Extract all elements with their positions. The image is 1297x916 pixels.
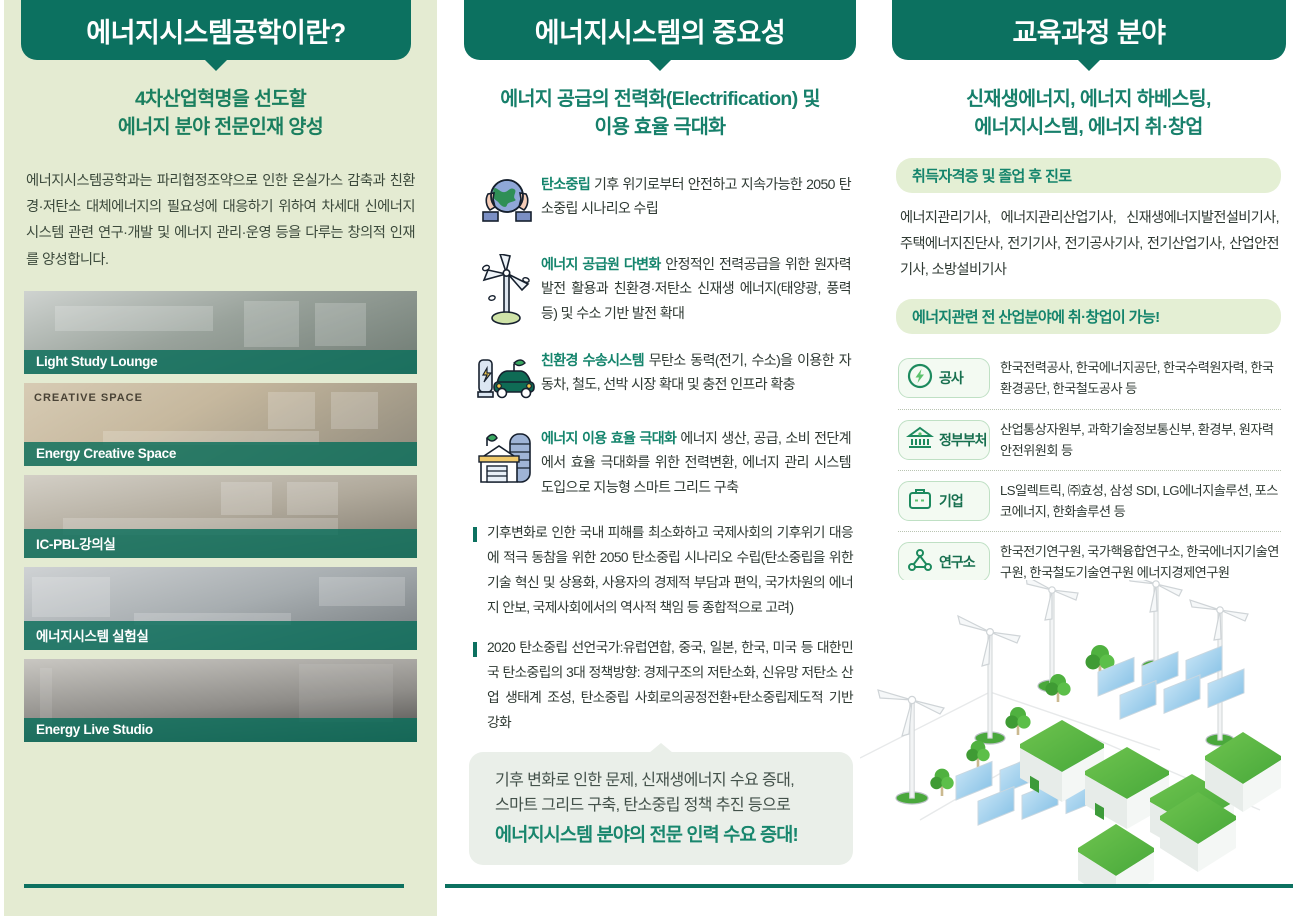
bullet-item: 2020 탄소중립 선언국가:유럽연합, 중국, 일본, 한국, 미국 등 대한… bbox=[473, 636, 853, 735]
briefcase-icon bbox=[906, 484, 934, 517]
column-curriculum: 교육과정 분야 신재생에너지, 에너지 하베스팅, 에너지시스템, 에너지 취·… bbox=[884, 0, 1293, 592]
feature-text: 탄소중립 기후 위기로부터 안전하고 지속가능한 2050 탄소중립 시나리오 … bbox=[541, 172, 851, 230]
column3-subtitle-line1: 신재생에너지, 에너지 하베스팅, bbox=[884, 85, 1293, 113]
column3-subtitle-line2: 에너지시스템, 에너지 취·창업 bbox=[884, 113, 1293, 141]
career-badge: 기업 bbox=[898, 481, 990, 521]
career-row-government: 정부부처 산업통상자원부, 과학기술정보통신부, 환경부, 원자력안전위원회 등 bbox=[898, 410, 1281, 471]
callout-line1: 기후 변화로 인한 문제, 신재생에너지 수요 증대, bbox=[495, 768, 835, 794]
photo-ic-pbl-classroom: IC-PBL강의실 bbox=[24, 475, 417, 558]
feature-title: 친환경 수송시스템 bbox=[541, 352, 644, 368]
footer-rule-right bbox=[445, 884, 1293, 888]
career-text: 산업통상자원부, 과학기술정보통신부, 환경부, 원자력안전위원회 등 bbox=[990, 419, 1281, 461]
career-label: 정부부처 bbox=[939, 430, 987, 450]
bullet-list: 기후변화로 인한 국내 피해를 최소화하고 국제사회의 기후위기 대응에 적극 … bbox=[473, 521, 853, 736]
feature-text: 에너지 공급원 다변화 안정적인 전력공급을 위한 원자력 발전 활용과 친환경… bbox=[541, 252, 851, 326]
column1-header: 에너지시스템공학이란? bbox=[21, 0, 411, 60]
career-badge: 공사 bbox=[898, 358, 990, 398]
certifications-text: 에너지관리기사, 에너지관리산업기사, 신재생에너지발전설비기사, 주택에너지진… bbox=[900, 205, 1279, 284]
column2-subtitle: 에너지 공급의 전력화(Electrification) 및 이용 효율 극대화 bbox=[445, 85, 875, 142]
government-building-icon bbox=[906, 423, 934, 456]
feature-list: 탄소중립 기후 위기로부터 안전하고 지속가능한 2050 탄소중립 시나리오 … bbox=[473, 172, 851, 500]
column1-subtitle-line2: 에너지 분야 전문인재 양성 bbox=[4, 113, 437, 141]
photo-caption: 에너지시스템 실험실 bbox=[24, 621, 417, 650]
feature-row: 에너지 공급원 다변화 안정적인 전력공급을 위한 원자력 발전 활용과 친환경… bbox=[473, 252, 851, 326]
photo-caption: Light Study Lounge bbox=[24, 350, 417, 374]
renewable-energy-village-illustration bbox=[860, 580, 1297, 885]
feature-title: 탄소중립 bbox=[541, 176, 590, 192]
photo-caption: IC-PBL강의실 bbox=[24, 529, 417, 558]
photo-wall-text: CREATIVE SPACE bbox=[34, 392, 143, 404]
career-text: 한국전기연구원, 국가핵융합연구소, 한국에너지기술연구원, 한국철도기술연구원… bbox=[990, 541, 1281, 583]
column3-header-wrap: 교육과정 분야 bbox=[884, 0, 1293, 60]
column1-intro-paragraph: 에너지시스템공학과는 파리협정조약으로 인한 온실가스 감축과 친환경·저탄소 … bbox=[26, 168, 415, 274]
photo-energy-creative-space: CREATIVE SPACE Energy Creative Space bbox=[24, 383, 417, 466]
column1-header-wrap: 에너지시스템공학이란? bbox=[4, 0, 437, 60]
career-text: 한국전력공사, 한국에너지공단, 한국수력원자력, 한국환경공단, 한국철도공사… bbox=[990, 357, 1281, 399]
column3-header-notch bbox=[1078, 60, 1100, 71]
brochure-page: 에너지시스템공학이란? 4차산업혁명을 선도할 에너지 분야 전문인재 양성 에… bbox=[0, 0, 1297, 916]
feature-row: 탄소중립 기후 위기로부터 안전하고 지속가능한 2050 탄소중립 시나리오 … bbox=[473, 172, 851, 230]
footer-rule-left bbox=[24, 884, 404, 888]
column1-subtitle: 4차산업혁명을 선도할 에너지 분야 전문인재 양성 bbox=[4, 85, 437, 142]
smart-factory-icon bbox=[473, 426, 541, 500]
feature-title: 에너지 공급원 다변화 bbox=[541, 256, 661, 272]
careers-pill: 에너지관련 전 산업분야에 취·창업이 가능! bbox=[896, 299, 1281, 334]
demand-callout: 기후 변화로 인한 문제, 신재생에너지 수요 증대, 스마트 그리드 구축, … bbox=[469, 752, 853, 865]
column2-header: 에너지시스템의 중요성 bbox=[464, 0, 856, 60]
feature-row: 친환경 수송시스템 무탄소 동력(전기, 수소)을 이용한 자동차, 철도, 선… bbox=[473, 348, 851, 404]
career-text: LS일렉트릭, ㈜효성, 삼성 SDI, LG에너지솔루션, 포스코에너지, 한… bbox=[990, 480, 1281, 522]
photo-energy-system-lab: 에너지시스템 실험실 bbox=[24, 567, 417, 650]
column-about: 에너지시스템공학이란? 4차산업혁명을 선도할 에너지 분야 전문인재 양성 에… bbox=[4, 0, 437, 751]
career-label: 공사 bbox=[939, 368, 963, 388]
career-row-public-corp: 공사 한국전력공사, 한국에너지공단, 한국수력원자력, 한국환경공단, 한국철… bbox=[898, 348, 1281, 409]
bullet-item: 기후변화로 인한 국내 피해를 최소화하고 국제사회의 기후위기 대응에 적극 … bbox=[473, 521, 853, 620]
column3-header: 교육과정 분야 bbox=[892, 0, 1286, 60]
feature-row: 에너지 이용 효율 극대화 에너지 생산, 공급, 소비 전단계에서 효율 극대… bbox=[473, 426, 851, 500]
feature-text: 에너지 이용 효율 극대화 에너지 생산, 공급, 소비 전단계에서 효율 극대… bbox=[541, 426, 851, 500]
column2-subtitle-line1: 에너지 공급의 전력화(Electrification) 및 bbox=[445, 85, 875, 113]
column2-header-notch bbox=[649, 60, 671, 71]
career-list: 공사 한국전력공사, 한국에너지공단, 한국수력원자력, 한국환경공단, 한국철… bbox=[898, 348, 1281, 592]
career-label: 연구소 bbox=[939, 552, 975, 572]
photo-caption: Energy Creative Space bbox=[24, 442, 417, 466]
wind-turbine-icon bbox=[473, 252, 541, 326]
photo-caption: Energy Live Studio bbox=[24, 718, 417, 742]
photo-energy-live-studio: Energy Live Studio bbox=[24, 659, 417, 742]
column1-header-notch bbox=[205, 60, 227, 71]
earth-in-hands-icon bbox=[473, 172, 541, 230]
column-importance: 에너지시스템의 중요성 에너지 공급의 전력화(Electrification)… bbox=[445, 0, 875, 865]
energy-bolt-icon bbox=[906, 362, 934, 395]
photo-light-study-lounge: Light Study Lounge bbox=[24, 291, 417, 374]
column3-subtitle: 신재생에너지, 에너지 하베스팅, 에너지시스템, 에너지 취·창업 bbox=[884, 85, 1293, 142]
feature-text: 친환경 수송시스템 무탄소 동력(전기, 수소)을 이용한 자동차, 철도, 선… bbox=[541, 348, 851, 404]
column2-header-wrap: 에너지시스템의 중요성 bbox=[445, 0, 875, 60]
certifications-pill: 취득자격증 및 졸업 후 진로 bbox=[896, 158, 1281, 193]
career-badge: 정부부처 bbox=[898, 420, 990, 460]
ev-charging-car-icon bbox=[473, 348, 541, 404]
callout-line2: 스마트 그리드 구축, 탄소중립 정책 추진 등으로 bbox=[495, 793, 835, 819]
feature-title: 에너지 이용 효율 극대화 bbox=[541, 430, 676, 446]
facility-photo-list: Light Study Lounge CREATIVE SPACE Energy… bbox=[24, 291, 417, 742]
career-badge: 연구소 bbox=[898, 542, 990, 582]
callout-notch bbox=[649, 743, 673, 753]
column2-subtitle-line2: 이용 효율 극대화 bbox=[445, 113, 875, 141]
career-row-company: 기업 LS일렉트릭, ㈜효성, 삼성 SDI, LG에너지솔루션, 포스코에너지… bbox=[898, 471, 1281, 532]
callout-strong: 에너지시스템 분야의 전문 인력 수요 증대! bbox=[495, 821, 835, 847]
research-node-icon bbox=[906, 546, 934, 579]
column1-subtitle-line1: 4차산업혁명을 선도할 bbox=[4, 85, 437, 113]
career-label: 기업 bbox=[939, 491, 963, 511]
